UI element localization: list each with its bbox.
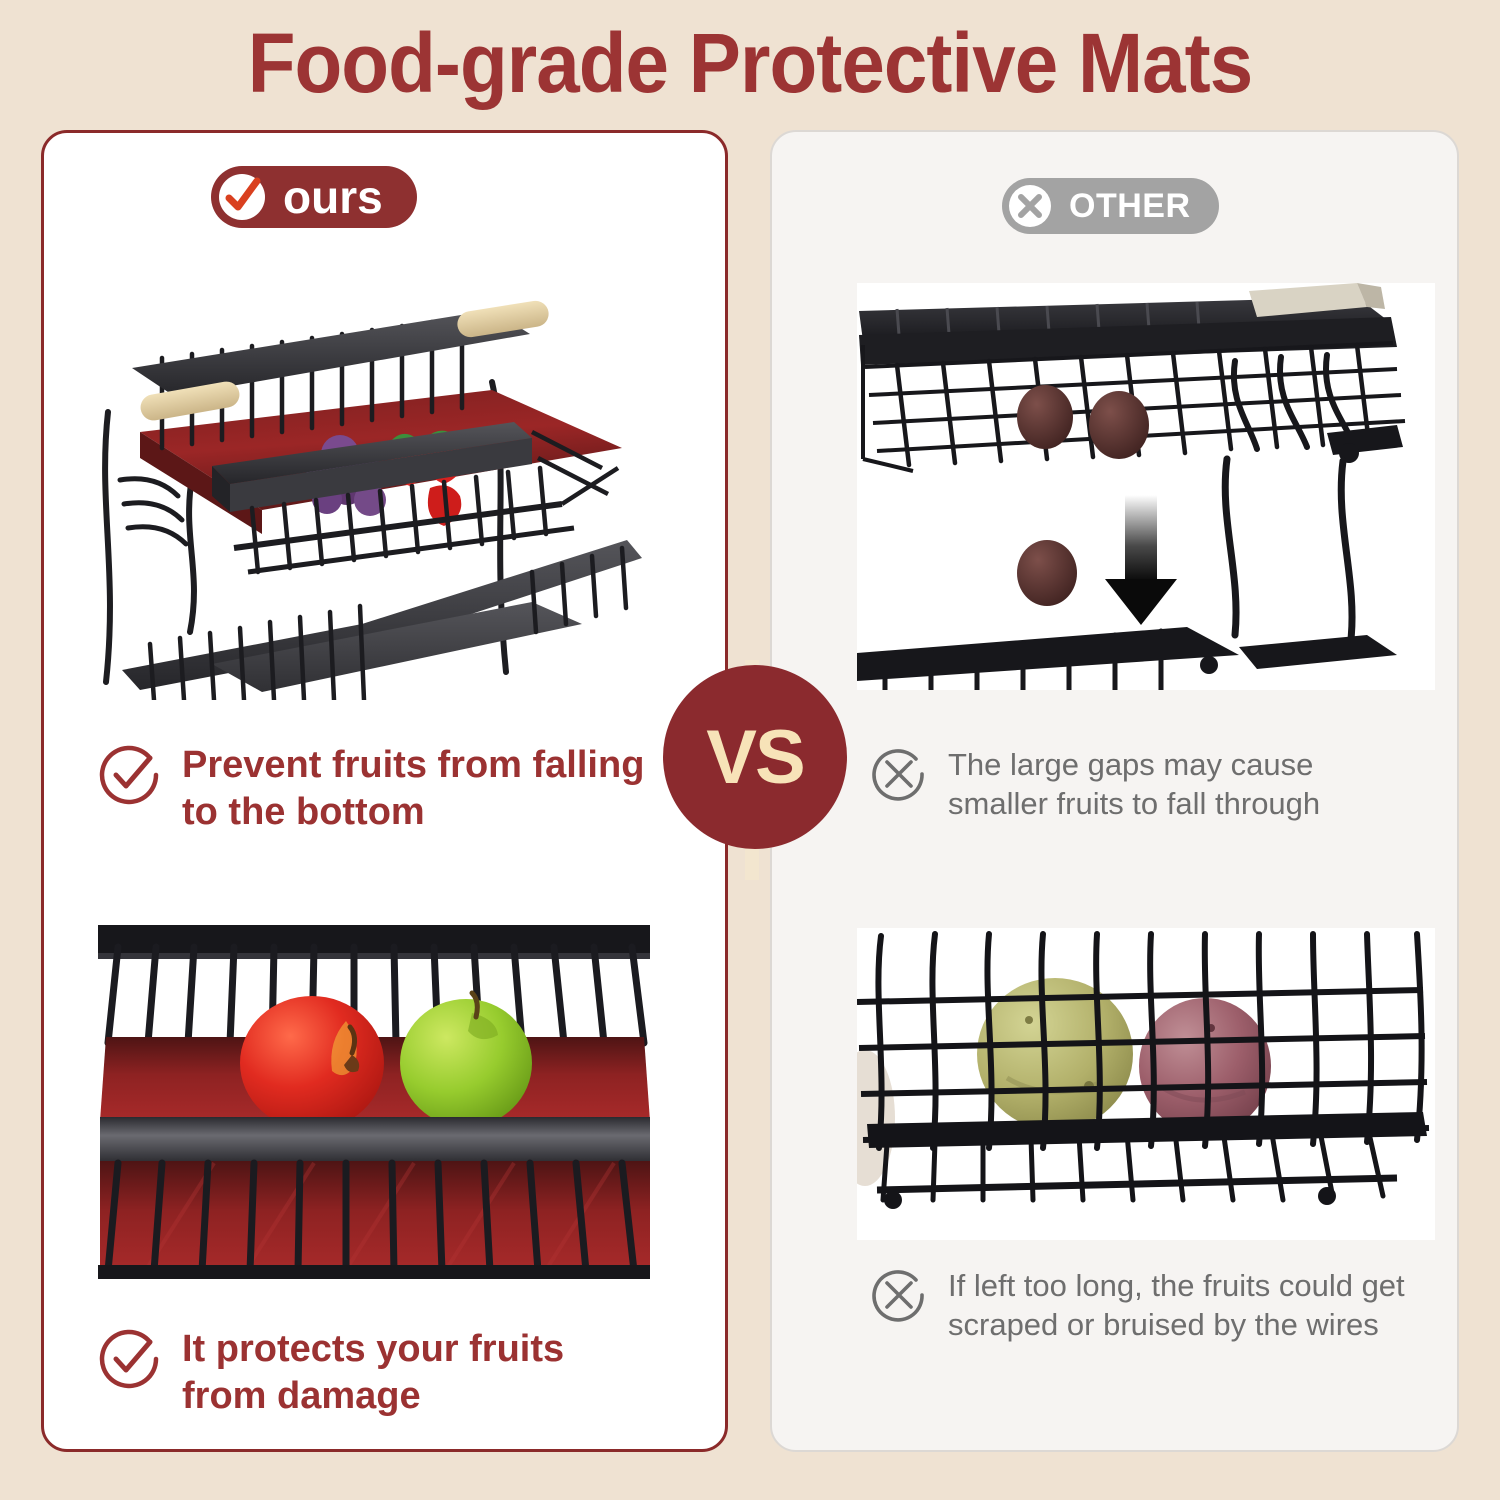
other-photo-bruised [857,928,1435,1240]
x-circle-icon [1009,185,1051,227]
ours-caption-2: It protects your fruits from damage [98,1326,658,1420]
check-circle-outline-icon [98,744,160,811]
other-badge: OTHER [1002,178,1219,234]
vs-badge: VS [663,665,847,849]
page-title: Food-grade Protective Mats [53,8,1448,118]
ours-caption-1: Prevent fruits from falling to the botto… [98,742,658,836]
other-photo-gaps [857,283,1435,690]
other-caption-2-text: If left too long, the fruits could get s… [948,1266,1417,1344]
check-circle-outline-icon [98,1328,160,1395]
other-caption-1-text: The large gaps may cause smaller fruits … [948,745,1417,823]
ours-caption-2-text: It protects your fruits from damage [182,1326,658,1420]
other-caption-2: If left too long, the fruits could get s… [872,1266,1417,1344]
x-circle-outline-icon [872,1268,926,1327]
ours-photo-apples-on-mat [84,925,662,1283]
ours-photo-basket-with-mat [62,272,682,700]
x-circle-outline-icon [872,747,926,806]
check-circle-icon [219,174,265,220]
ours-badge-label: ours [283,170,383,224]
other-badge-label: OTHER [1069,187,1191,226]
other-caption-1: The large gaps may cause smaller fruits … [872,745,1417,823]
ours-badge: ours [211,166,417,228]
ours-caption-1-text: Prevent fruits from falling to the botto… [182,742,658,836]
